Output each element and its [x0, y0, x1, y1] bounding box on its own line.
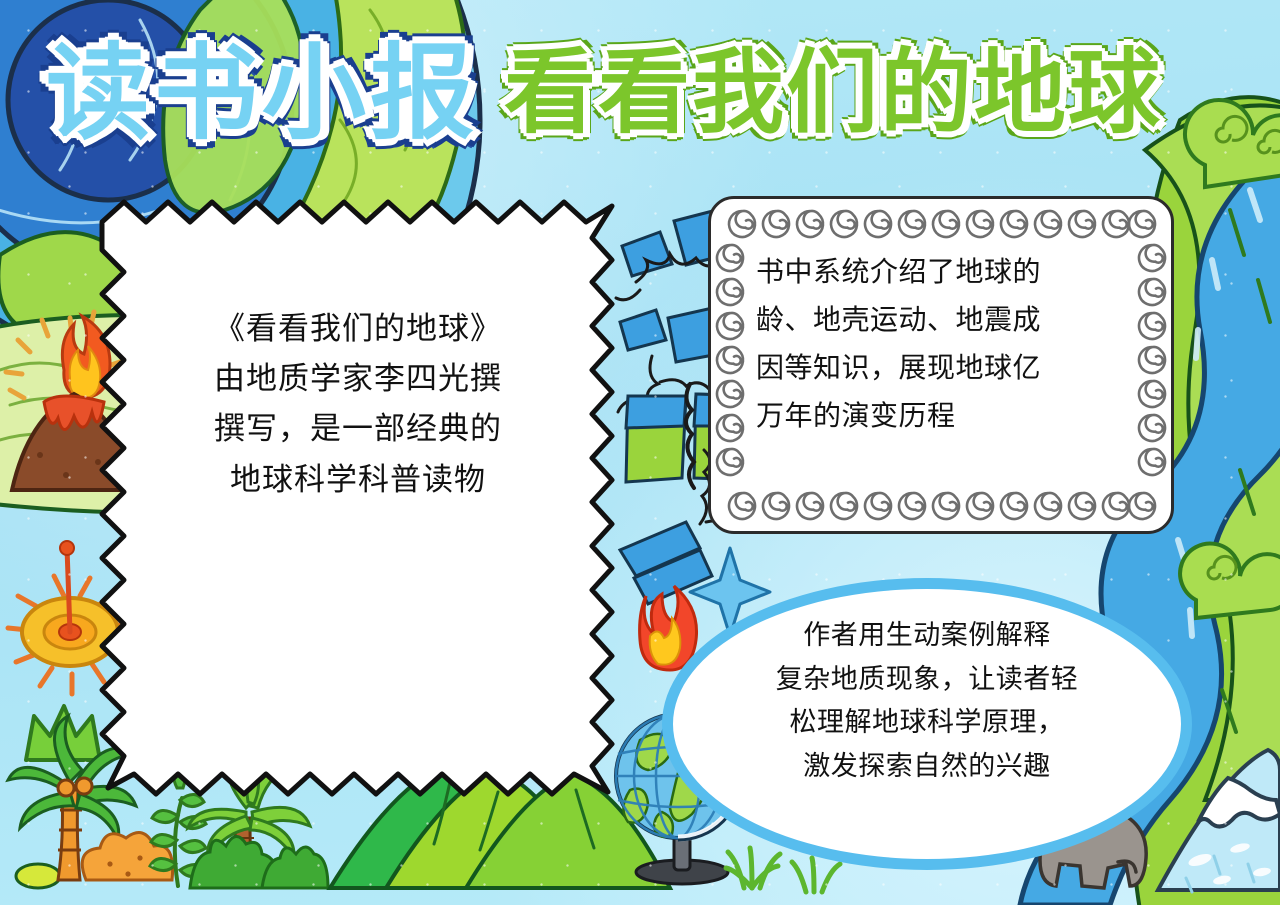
book-intro-box: 《看看我们的地球》 由地质学家李四光撰 撰写，是一部经典的 地球科学科普读物: [96, 196, 618, 804]
book-content-line: 万年的演变历程: [756, 392, 1132, 440]
book-intro-line: 《看看我们的地球》: [140, 304, 576, 354]
book-content-line: 因等知识，展现地球亿: [756, 344, 1132, 392]
book-review-line: 松理解地球科学原理，: [720, 701, 1134, 745]
poster-canvas: 读书小报 看看我们的地球 《看看我们的地球》 由地质学家李四光撰 撰写，是一部经…: [0, 0, 1280, 905]
book-intro-line: 由地质学家李四光撰: [140, 354, 576, 404]
book-intro-text: 《看看我们的地球》 由地质学家李四光撰 撰写，是一部经典的 地球科学科普读物: [140, 304, 576, 505]
poster-title-row: 读书小报 看看我们的地球: [0, 28, 1280, 158]
book-content-text: 书中系统介绍了地球的 龄、地壳运动、地震成 因等知识，展现地球亿 万年的演变历程: [756, 248, 1132, 441]
book-review-text: 作者用生动案例解释 复杂地质现象，让读者轻 松理解地球科学原理， 激发探索自然的…: [720, 614, 1134, 789]
book-content-line: 书中系统介绍了地球的: [756, 248, 1132, 296]
book-review-box: 作者用生动案例解释 复杂地质现象，让读者轻 松理解地球科学原理， 激发探索自然的…: [662, 578, 1192, 870]
book-content-box: 书中系统介绍了地球的 龄、地壳运动、地震成 因等知识，展现地球亿 万年的演变历程: [708, 196, 1174, 534]
book-content-line: 龄、地壳运动、地震成: [756, 296, 1132, 344]
book-review-line: 复杂地质现象，让读者轻: [720, 658, 1134, 702]
page-title: 读书小报: [46, 41, 478, 145]
book-review-line: 激发探索自然的兴趣: [720, 745, 1134, 789]
book-intro-line: 撰写，是一部经典的: [140, 404, 576, 454]
page-subtitle: 看看我们的地球: [504, 47, 1162, 139]
book-intro-line: 地球科学科普读物: [140, 455, 576, 505]
book-review-line: 作者用生动案例解释: [720, 614, 1134, 658]
